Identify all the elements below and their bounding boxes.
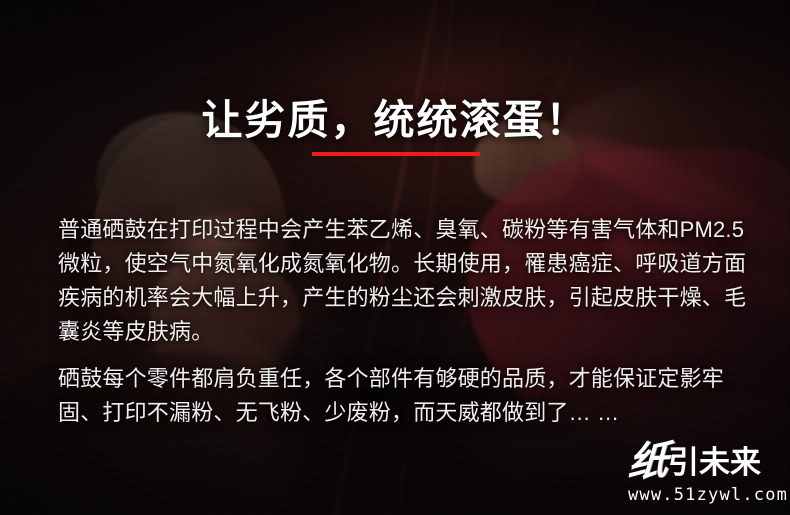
headline-divider xyxy=(312,152,480,156)
watermark-logo: 纸 引未来 xyxy=(628,438,778,482)
body-paragraph-1: 普通硒鼓在打印过程中会产生苯乙烯、臭氧、碳粉等有害气体和PM2.5微粒，使空气中… xyxy=(58,213,748,349)
body-paragraph-2: 硒鼓每个零件都肩负重任，各个部件有够硬的品质，才能保证定影牢固、打印不漏粉、无飞… xyxy=(58,362,748,430)
body-copy: 普通硒鼓在打印过程中会产生苯乙烯、臭氧、碳粉等有害气体和PM2.5微粒，使空气中… xyxy=(58,213,748,430)
watermark: 纸 引未来 www.51zywl.com xyxy=(628,438,778,505)
watermark-logo-brush-character: 纸 xyxy=(627,441,667,483)
promo-banner: 让劣质，统统滚蛋！ 普通硒鼓在打印过程中会产生苯乙烯、臭氧、碳粉等有害气体和PM… xyxy=(0,0,790,515)
watermark-logo-text: 引未来 xyxy=(668,446,761,480)
watermark-url: www.51zywl.com xyxy=(628,485,778,505)
headline: 让劣质，统统滚蛋！ xyxy=(0,95,790,145)
